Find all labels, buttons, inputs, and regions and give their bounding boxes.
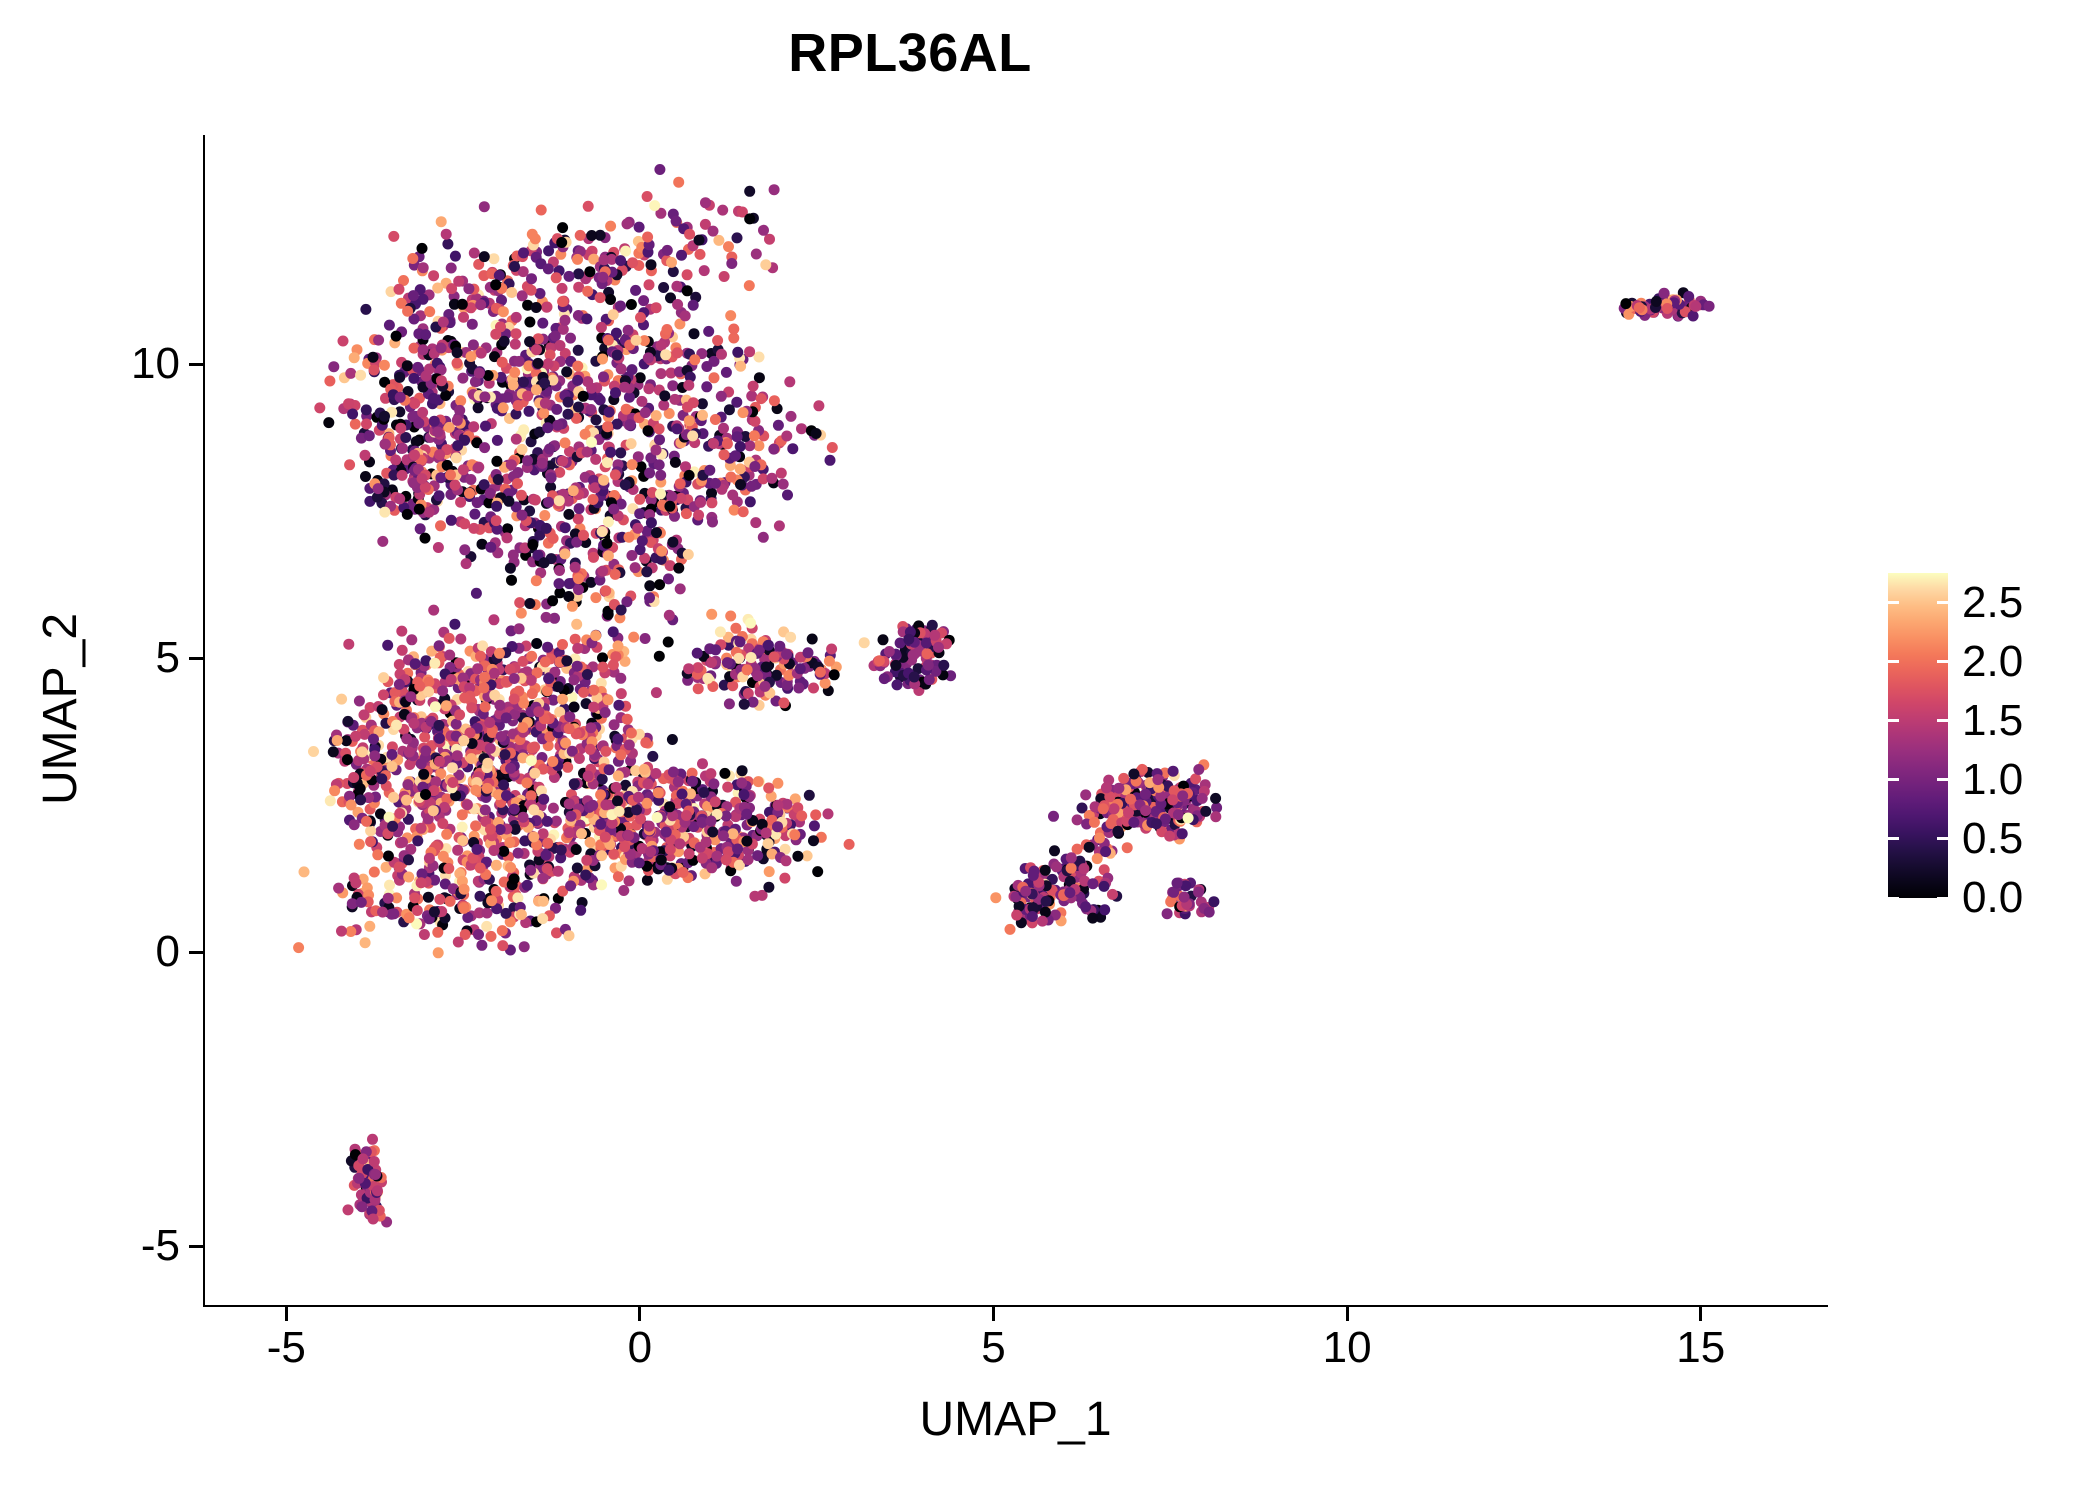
colorbar-label-1: 0.5 — [1962, 817, 2023, 861]
colorbar-tick-3 — [1888, 719, 1899, 722]
y-tick-label-2: 0 — [0, 930, 180, 974]
colorbar-tick-5 — [1937, 601, 1948, 604]
page-title: RPL36AL — [0, 26, 1820, 80]
colorbar-tick-2 — [1888, 778, 1899, 781]
colorbar — [1888, 573, 1948, 898]
x-tick-label-4: 15 — [1621, 1326, 1781, 1370]
colorbar-tick-1 — [1937, 837, 1948, 840]
colorbar-label-0: 0.0 — [1962, 876, 2023, 920]
colorbar-label-4: 2.0 — [1962, 640, 2023, 684]
x-axis-label: UMAP_1 — [203, 1396, 1828, 1444]
colorbar-tick-4 — [1937, 660, 1948, 663]
y-tick-label-1: 5 — [0, 636, 180, 680]
x-tick-label-3: 10 — [1267, 1326, 1427, 1370]
y-axis-label: UMAP_2 — [37, 119, 85, 1299]
y-tick-2 — [189, 951, 203, 954]
colorbar-tick-2 — [1937, 778, 1948, 781]
x-tick-2 — [992, 1307, 995, 1321]
colorbar-tick-3 — [1937, 719, 1948, 722]
colorbar-tick-1 — [1888, 837, 1899, 840]
x-tick-1 — [638, 1307, 641, 1321]
colorbar-label-3: 1.5 — [1962, 699, 2023, 743]
colorbar-label-2: 1.0 — [1962, 758, 2023, 802]
scatter-points — [205, 135, 1828, 1305]
scatter-layer — [205, 135, 1828, 1305]
x-tick-label-1: 0 — [560, 1326, 720, 1370]
colorbar-label-5: 2.5 — [1962, 581, 2023, 625]
x-tick-label-2: 5 — [914, 1326, 1074, 1370]
colorbar-tick-0 — [1888, 897, 1899, 900]
y-tick-3 — [189, 1245, 203, 1248]
colorbar-tick-4 — [1888, 660, 1899, 663]
colorbar-tick-0 — [1937, 897, 1948, 900]
plot-panel — [205, 135, 1828, 1305]
y-tick-1 — [189, 657, 203, 660]
x-tick-4 — [1699, 1307, 1702, 1321]
color-legend: 0.00.51.01.52.02.5 — [1888, 570, 2088, 910]
y-tick-label-3: -5 — [0, 1224, 180, 1268]
colorbar-tick-5 — [1888, 601, 1899, 604]
x-tick-3 — [1346, 1307, 1349, 1321]
y-tick-label-0: 10 — [0, 342, 180, 386]
colorbar-gradient — [1888, 573, 1948, 898]
x-tick-0 — [285, 1307, 288, 1321]
x-tick-label-0: -5 — [206, 1326, 366, 1370]
y-tick-0 — [189, 363, 203, 366]
umap-feature-plot: RPL36AL -5051015 1050-5 UMAP_1 UMAP_2 0.… — [0, 0, 2100, 1500]
